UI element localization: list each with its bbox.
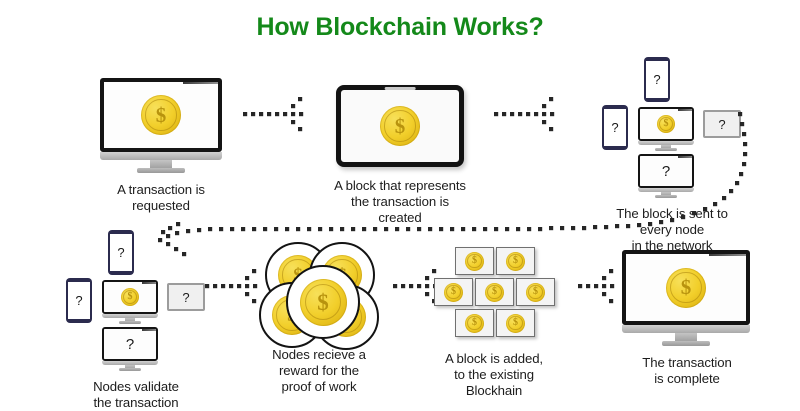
step-nodes-receive-reward: $ $ $ $ $ Nodes recieve a reward for the…: [253, 240, 393, 395]
block-grid-icon: $ $ $ $ $ $ $: [428, 247, 580, 343]
chain-block: $: [455, 309, 494, 337]
infographic-canvas: How Blockchain Works? $ A transaction is…: [0, 0, 800, 400]
node-cluster: ? ? $ ?: [62, 230, 210, 342]
node-monitor-center: $: [102, 280, 158, 324]
chain-block: $: [516, 278, 555, 306]
step-caption: Nodes recieve a reward for the proof of …: [245, 347, 393, 395]
arrow-6-to-7: [578, 272, 628, 302]
step-block-added-to-chain: $ $ $ $ $ $ $ A block is added, to the: [428, 247, 580, 399]
page-title: How Blockchain Works?: [0, 13, 800, 42]
step-caption: Nodes validate the transaction: [62, 379, 210, 411]
node-phone-top: ?: [108, 230, 134, 275]
coin-flower-icon: $ $ $ $ $: [253, 240, 393, 340]
step-caption: A block is added, to the existing Blockh…: [408, 351, 580, 399]
node-card-right: ?: [167, 283, 205, 311]
chain-block: $: [496, 247, 535, 275]
desktop-monitor-icon: $: [622, 250, 750, 346]
chain-block: $: [496, 309, 535, 337]
coin-petal-center: $: [286, 265, 360, 339]
step-caption: The transaction is complete: [622, 355, 752, 387]
chain-block: $: [475, 278, 514, 306]
step-nodes-validate: ? ? $ ?: [62, 230, 210, 411]
chain-block: $: [434, 278, 473, 306]
coin-icon: $: [666, 268, 706, 308]
chain-block: $: [455, 247, 494, 275]
node-monitor-bottom: ?: [102, 327, 158, 371]
coin-icon: $: [121, 288, 139, 306]
node-phone-top: ?: [644, 57, 670, 102]
step-transaction-complete: $ The transaction is complete: [622, 250, 752, 387]
node-phone-left: ?: [66, 278, 92, 323]
